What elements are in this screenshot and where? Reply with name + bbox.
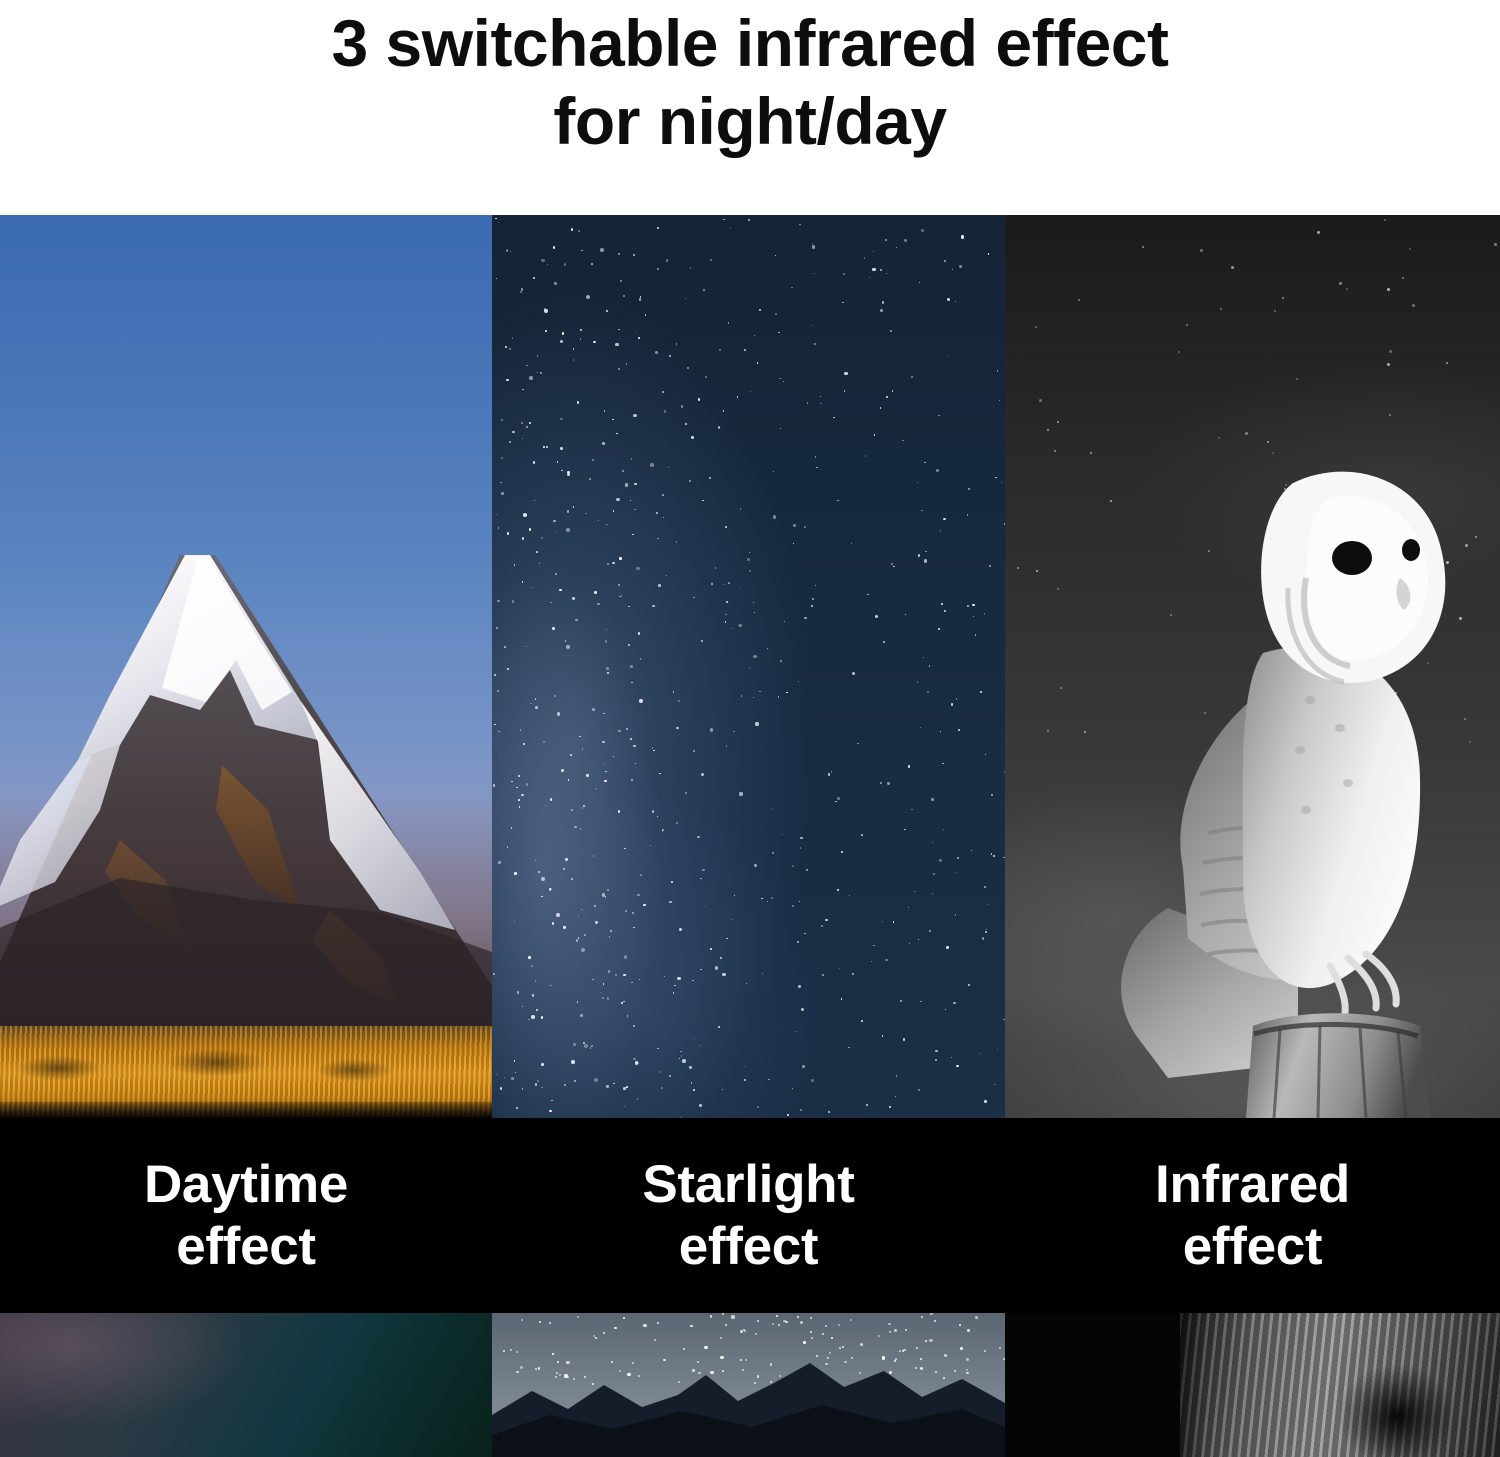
infrared-owl: [1048, 438, 1478, 1118]
panel-starlight-image: [492, 215, 1005, 1118]
caption-daytime-line-1: Daytime: [144, 1154, 348, 1216]
caption-starlight-line-1: Starlight: [642, 1154, 854, 1216]
effect-panel-row: [0, 215, 1500, 1118]
daytime-grass-field: [0, 1026, 492, 1118]
caption-infrared: Infrared effect: [1005, 1118, 1500, 1313]
caption-starlight-line-2: effect: [679, 1216, 819, 1278]
daytime-mountain: [0, 510, 492, 1030]
bottom-panel-teal: [0, 1313, 492, 1457]
caption-infrared-line-1: Infrared: [1155, 1154, 1350, 1216]
panel-infrared-image: [1005, 215, 1500, 1118]
caption-bar: Daytime effect Starlight effect Infrared…: [0, 1118, 1500, 1313]
caption-daytime-line-2: effect: [176, 1216, 316, 1278]
caption-infrared-line-2: effect: [1183, 1216, 1323, 1278]
headline-line-2: for night/day: [553, 82, 946, 160]
mountain-svg: [0, 510, 492, 1030]
caption-starlight: Starlight effect: [492, 1118, 1005, 1313]
bark-texture: [1180, 1313, 1500, 1457]
starfield: [492, 215, 1005, 1118]
bottom-image-strip: [0, 1313, 1500, 1457]
headline-line-1: 3 switchable infrared effect: [332, 4, 1169, 82]
bark-shadow-fade: [1135, 1313, 1205, 1457]
bottom-panel-starry-mountains: [492, 1313, 1005, 1457]
caption-daytime: Daytime effect: [0, 1118, 492, 1313]
panel-daytime-image: [0, 215, 492, 1118]
headline-band: 3 switchable infrared effect for night/d…: [0, 0, 1500, 215]
bottom-panel-bark: [1005, 1313, 1500, 1457]
owl-svg: [1048, 438, 1478, 1118]
bottom-mountain-ridge: [492, 1357, 1005, 1457]
product-feature-graphic: 3 switchable infrared effect for night/d…: [0, 0, 1500, 1457]
